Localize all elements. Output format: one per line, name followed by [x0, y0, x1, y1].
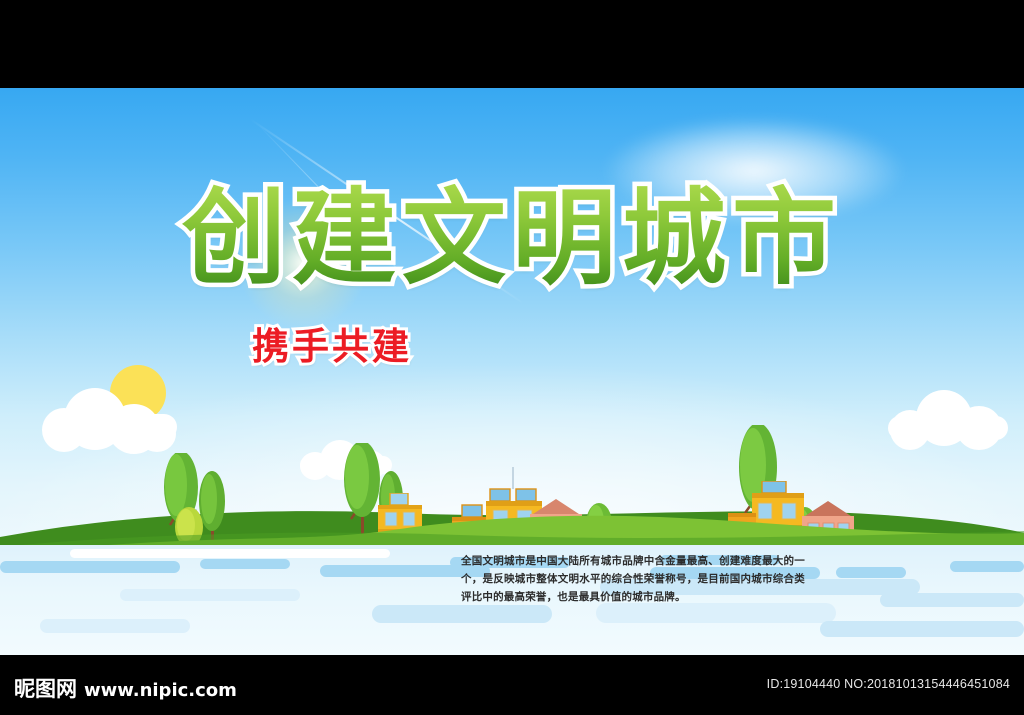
- brand-url: www.nipic.com: [84, 680, 237, 701]
- cloud-left-icon: [42, 384, 177, 440]
- main-title-outline: 创建文明城市: [0, 184, 1024, 293]
- lens-flare-streak-icon: [249, 118, 524, 304]
- sub-title: 携手共建: [252, 316, 412, 370]
- poster-root: 创建文明城市 创建文明城市 携手共建 携手共建 全国文明城市是中国大陆所有城市品…: [0, 0, 1024, 715]
- top-letterbox-bar: [0, 0, 1024, 88]
- main-title-outline-text: 创建文明城市: [182, 184, 842, 293]
- sub-title-outline: 携手共建: [252, 316, 412, 370]
- sky-cloud-blur: [544, 96, 964, 246]
- lens-flare-streak-secondary-icon: [258, 124, 418, 290]
- poster-artboard: 创建文明城市 创建文明城市 携手共建 携手共建 全国文明城市是中国大陆所有城市品…: [0, 88, 1024, 655]
- cloud-right-icon: [888, 390, 1010, 440]
- brand-name-cn: 昵图网: [14, 673, 77, 703]
- headline-group: 创建文明城市 创建文明城市: [0, 184, 1024, 293]
- main-title: 创建文明城市: [182, 184, 842, 293]
- image-id-text: ID:19104440 NO:20181013154446451084: [767, 677, 1010, 691]
- river-water: [0, 545, 1024, 655]
- brand-logo[interactable]: 昵图网 www.nipic.com: [14, 673, 237, 703]
- lens-flare-burst-icon: [228, 188, 378, 338]
- footer-bar: 昵图网 www.nipic.com ID:19104440 NO:2018101…: [0, 655, 1024, 715]
